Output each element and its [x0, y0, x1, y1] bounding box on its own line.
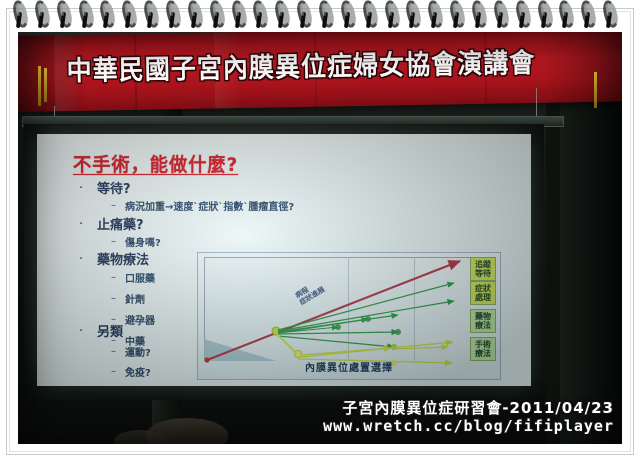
diagram-caption: 內膜異位處置選擇: [198, 359, 500, 374]
bullet-medication: 藥物療法: [97, 249, 149, 268]
spiral-binding: [0, 0, 640, 34]
projection-screen: 不手術，能做什麼? · 等待? – 病況加重→速度ˋ症狀ˋ指數ˋ腫瘤直徑? · …: [24, 124, 544, 400]
sub-bullet-iud: 避孕器: [125, 312, 155, 327]
spiral-ring: [189, 0, 202, 30]
wall-column-right: [558, 72, 622, 444]
spiral-ring: [539, 0, 552, 30]
sub-bullet-painkiller-detail: 傷身嗎?: [125, 234, 161, 249]
sub-bullet-wait-detail: 病況加重→速度ˋ症狀ˋ指數ˋ腫瘤直徑?: [125, 198, 294, 213]
spiral-ring: [145, 0, 158, 30]
spiral-ring: [604, 0, 617, 30]
sub-bullet-marker: –: [111, 200, 116, 211]
sub-bullet-immunity: 免疫?: [125, 364, 151, 379]
spiral-ring: [386, 0, 399, 30]
spiral-ring: [254, 0, 267, 30]
spiral-ring: [211, 0, 224, 30]
watermark-line-1: 子宮內膜異位症研習會-2011/04/23: [18, 399, 614, 417]
sub-bullet-marker: –: [111, 236, 116, 247]
presentation-slide: 不手術，能做什麼? · 等待? – 病況加重→速度ˋ症狀ˋ指數ˋ腫瘤直徑? · …: [37, 134, 531, 386]
event-banner: 中華民國子宮內膜異位症婦女協會演講會: [18, 32, 622, 112]
bullet-marker: ·: [79, 181, 83, 196]
spiral-ring: [495, 0, 508, 30]
watermark-line-2: www.wretch.cc/blog/fifiplayer: [18, 417, 614, 436]
photograph: 中華民國子宮內膜異位症婦女協會演講會 不手術，能做什麼? · 等待? – 病況加…: [18, 32, 622, 444]
spiral-ring: [298, 0, 311, 30]
banner-tassel-left2: [44, 68, 47, 102]
spiral-ring: [320, 0, 333, 30]
spiral-ring: [429, 0, 442, 30]
spiral-ring: [342, 0, 355, 30]
spiral-ring: [58, 0, 71, 30]
bullet-painkiller: 止痛藥?: [97, 214, 144, 233]
wall-panel-right: [546, 72, 560, 444]
spiral-ring: [80, 0, 93, 30]
bullet-marker: ·: [79, 252, 83, 267]
watermark: 子宮內膜異位症研習會-2011/04/23 www.wretch.cc/blog…: [18, 399, 614, 436]
sub-bullet-marker: –: [111, 293, 116, 304]
tag-follow-up: 追蹤等待: [470, 257, 496, 281]
sub-bullet-marker: –: [111, 272, 116, 283]
spiral-ring: [36, 0, 49, 30]
spiral-ring: [276, 0, 289, 30]
sub-bullet-oral: 口服藥: [125, 270, 155, 285]
bullet-wait: 等待?: [97, 178, 131, 197]
spiral-ring: [517, 0, 530, 30]
sub-bullet-injection: 針劑: [125, 291, 145, 306]
treatment-decision-diagram: 病程症狀進展 追蹤等待 症狀處理 藥物療法 手術療法 內膜異位處置選擇: [197, 252, 501, 380]
spiral-ring: [582, 0, 595, 30]
spiral-ring: [233, 0, 246, 30]
spiral-ring: [560, 0, 573, 30]
sub-bullet-exercise: 運動?: [125, 344, 151, 359]
bullet-marker: ·: [79, 324, 83, 339]
spiral-ring: [167, 0, 180, 30]
tag-surgical-therapy: 手術療法: [470, 337, 496, 361]
spiral-ring: [364, 0, 377, 30]
spiral-ring: [407, 0, 420, 30]
bullet-alternative: 另類: [97, 321, 123, 340]
spiral-ring: [123, 0, 136, 30]
tag-symptom-management: 症狀處理: [470, 281, 496, 305]
bullet-marker: ·: [79, 217, 83, 232]
spiral-ring: [101, 0, 114, 30]
screen-surface: 不手術，能做什麼? · 等待? – 病況加重→速度ˋ症狀ˋ指數ˋ腫瘤直徑? · …: [37, 134, 531, 386]
banner-tassel-right: [594, 72, 597, 108]
slide-title: 不手術，能做什麼?: [73, 150, 238, 177]
spiral-ring: [451, 0, 464, 30]
tag-medication-therapy: 藥物療法: [470, 309, 496, 333]
spiral-ring: [14, 0, 27, 30]
sub-bullet-marker: –: [111, 346, 116, 357]
notebook-page: 中華民國子宮內膜異位症婦女協會演講會 不手術，能做什麼? · 等待? – 病況加…: [0, 0, 640, 461]
sub-bullet-marker: –: [111, 366, 116, 377]
banner-tassel-left: [38, 66, 41, 106]
spiral-ring: [473, 0, 486, 30]
